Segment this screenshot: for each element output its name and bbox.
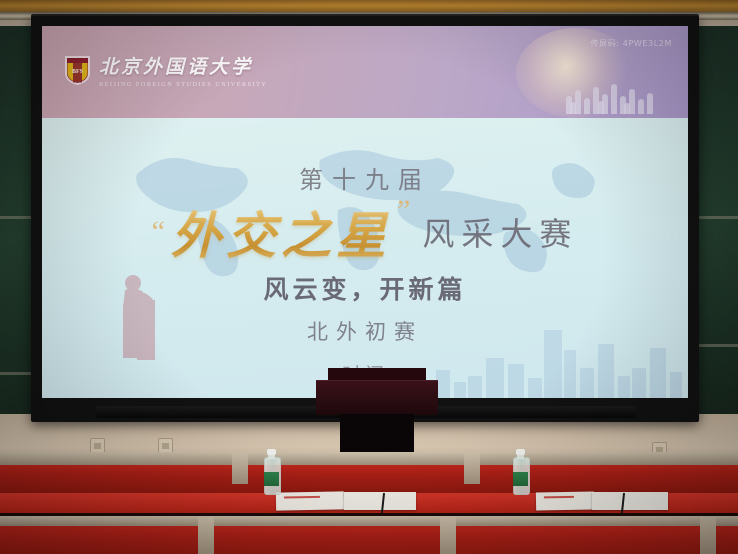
desk-divider-post (700, 516, 716, 554)
water-bottle-right (513, 449, 528, 495)
city-skyline-graphic (432, 303, 682, 398)
desk-divider-post (440, 516, 456, 554)
podium-top (316, 380, 438, 415)
paper-heading-mark (284, 496, 320, 499)
desk-rail (0, 516, 738, 526)
slide-body: 第十九届 “ 外交之星 ” 风采大赛 风云变，开新篇 北外初赛 时间 (42, 118, 688, 398)
notebook-left-open-page (344, 492, 416, 510)
desk-front-panel (0, 465, 738, 493)
desk-front-panel (0, 526, 738, 554)
logo-chinese-name: 北京外国语大学 (99, 52, 267, 79)
close-quote: ” (397, 196, 410, 226)
desk-area (0, 452, 738, 554)
title-gold-text: 外交之星 (167, 196, 395, 268)
svg-text:BFS: BFS (72, 69, 84, 75)
podium-base (340, 414, 414, 456)
desk-row-back (0, 516, 738, 554)
crowd-silhouette-icon (562, 70, 658, 114)
university-logo: BFS 北京外国语大学 BEIJING FOREIGN STUDIES UNIV… (64, 52, 267, 88)
desk-divider-post (464, 452, 480, 484)
paper-heading-mark (544, 496, 574, 499)
bottle-cap (267, 449, 276, 455)
bfsu-shield-icon: BFS (64, 54, 91, 86)
bottle-cap (516, 449, 525, 455)
lecture-hall-scene: BFS 北京外国语大学 BEIJING FOREIGN STUDIES UNIV… (0, 0, 738, 554)
open-quote: “ (152, 217, 165, 247)
logo-english-name: BEIJING FOREIGN STUDIES UNIVERSITY (99, 81, 267, 88)
speaker-silhouette-icon (114, 270, 162, 370)
screencast-code-watermark: 传屏码: 4PWE3L2M (591, 38, 672, 49)
bottle-label (513, 472, 528, 486)
desk-divider-post (198, 516, 214, 554)
water-bottle-left (264, 449, 279, 495)
slide-ordinal-line: 第十九届 (42, 160, 688, 195)
presentation-slide: BFS 北京外国语大学 BEIJING FOREIGN STUDIES UNIV… (42, 26, 688, 398)
title-tail-text: 风采大赛 (422, 209, 578, 255)
notebook-right (536, 491, 594, 510)
slide-main-title: “ 外交之星 ” 风采大赛 (42, 196, 688, 268)
bottle-label (264, 472, 279, 486)
notebook-right-open-page (592, 492, 668, 510)
notebook-left (276, 491, 344, 510)
desk-rail (0, 452, 738, 465)
desk-divider-post (232, 452, 248, 484)
